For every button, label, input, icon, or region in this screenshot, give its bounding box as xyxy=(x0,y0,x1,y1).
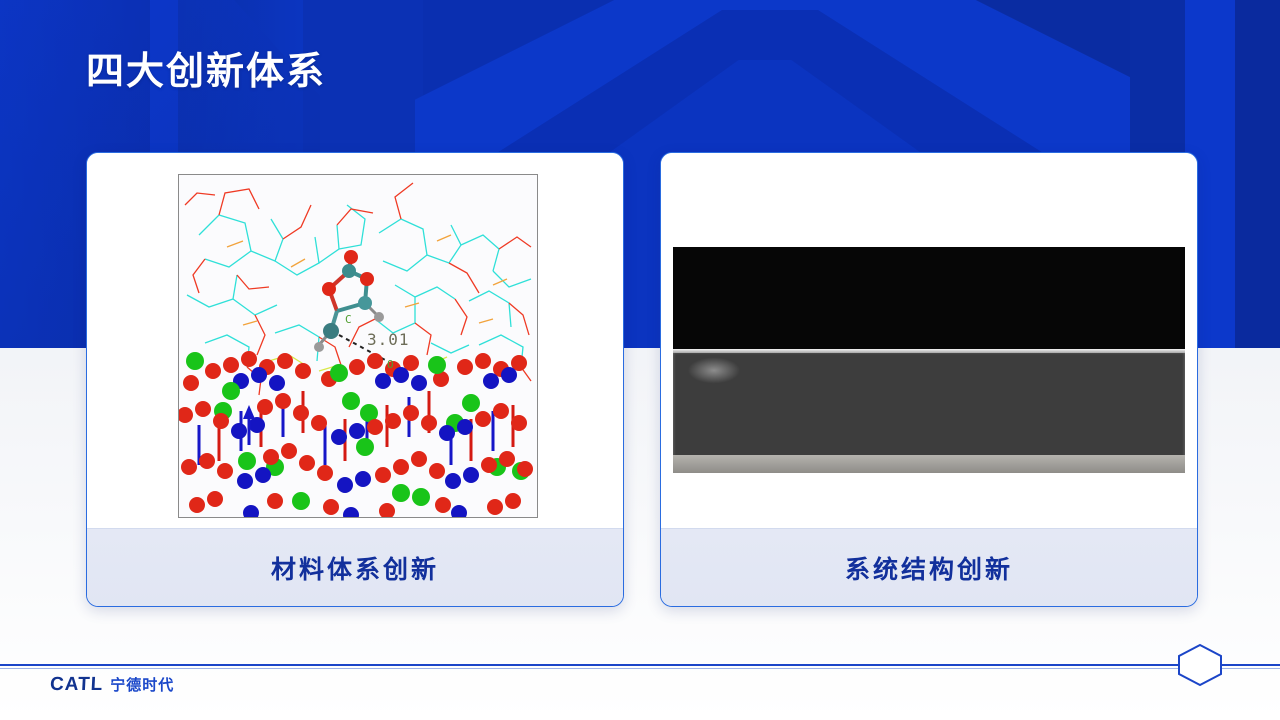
card-material-innovation[interactable]: 3.01 C O 材料体系创新 xyxy=(86,152,624,607)
card-figure-molecular: 3.01 C O xyxy=(87,153,623,528)
sem-micrograph-image xyxy=(673,247,1185,473)
logo-text-cn: 宁德时代 xyxy=(110,674,174,695)
footer-divider xyxy=(0,664,1280,666)
card-figure-sem xyxy=(661,153,1197,528)
distance-label: 3.01 xyxy=(367,330,410,349)
card-caption-system: 系统结构创新 xyxy=(661,528,1197,606)
card-caption-material: 材料体系创新 xyxy=(87,528,623,606)
molecular-structure-svg xyxy=(179,175,537,517)
sem-surface-edge xyxy=(673,349,1185,353)
atom-label-o: O xyxy=(387,358,395,371)
hexagon-icon xyxy=(1176,643,1224,687)
sem-background-region xyxy=(673,247,1185,353)
sem-porous-layer xyxy=(673,349,1185,469)
card-system-structure-innovation[interactable]: 系统结构创新 xyxy=(660,152,1198,607)
logo-text-en: CATL xyxy=(49,674,103,696)
footer-divider-secondary xyxy=(0,668,1280,669)
card-caption-text: 系统结构创新 xyxy=(845,550,1013,586)
slide-root: 四大创新体系 xyxy=(0,0,1280,720)
card-caption-text: 材料体系创新 xyxy=(271,550,439,586)
atom-label-c: C xyxy=(345,313,353,326)
catl-logo: CATL 宁德时代 xyxy=(50,674,174,696)
sem-substrate-band xyxy=(673,455,1185,473)
page-title: 四大创新体系 xyxy=(86,40,326,95)
molecular-simulation-image: 3.01 C O xyxy=(178,174,538,518)
bg-band-5 xyxy=(1235,0,1280,348)
